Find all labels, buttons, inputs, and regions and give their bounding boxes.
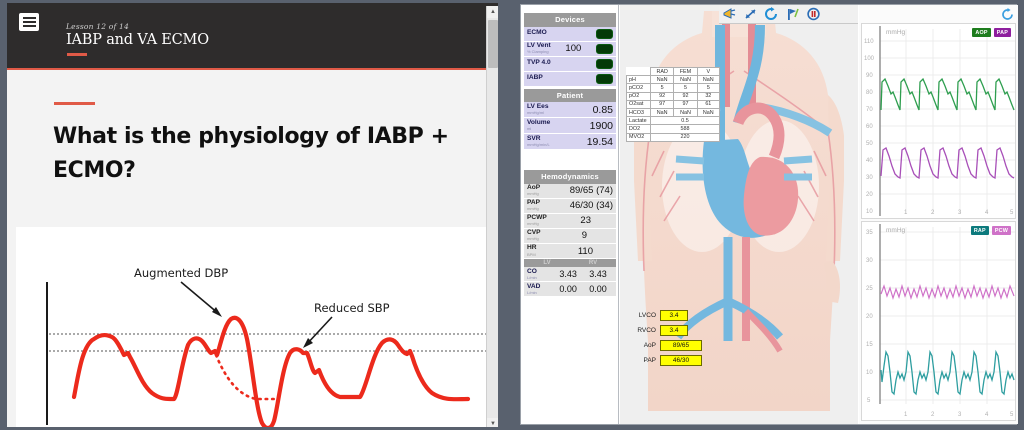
lab-row-label: O2sat	[627, 100, 651, 108]
subcolumn-rv-label: RV	[570, 259, 616, 267]
chart-aop-pap[interactable]: mmHg AOP PAP	[861, 23, 1016, 219]
device-row-ecmo[interactable]: ECMO	[524, 27, 616, 42]
device-led-indicator-icon[interactable]	[596, 44, 613, 54]
iabp-waveform-figure: Augmented DBP Reduced SBP	[16, 227, 498, 427]
hemo-param-value: 46/30 (34)	[570, 200, 613, 211]
device-led-indicator-icon[interactable]	[596, 59, 613, 69]
lab-cell-fem: 92	[674, 92, 697, 100]
readout-lvco: LVCO 3.4	[626, 310, 736, 321]
lesson-progress-label: Lesson 12 of 14	[66, 22, 129, 31]
svg-text:35: 35	[866, 230, 873, 236]
readout-value: 3.4	[660, 325, 688, 336]
hemo-lv-value: 0.00	[553, 284, 583, 294]
patient-param-unit: mmHg/ml	[527, 111, 549, 115]
hemo-row-hr: HR BPM 110	[524, 244, 616, 259]
patient-row-svr[interactable]: SVR mmHg/min/L 19.54	[524, 134, 616, 150]
hemo-param-unit: mmHg	[527, 207, 540, 211]
svg-text:1: 1	[904, 210, 908, 216]
dotted-decay-trace	[216, 355, 275, 399]
scrollbar-thumb[interactable]	[488, 20, 498, 68]
svg-text:4: 4	[985, 412, 989, 418]
lab-cell-rad: 5	[651, 84, 674, 92]
megaphone-icon[interactable]	[721, 6, 738, 22]
lab-cell-span: 220	[651, 133, 720, 141]
readout-pap: PAP 46/30	[626, 355, 736, 366]
hemo-param-value: 23	[580, 215, 591, 226]
lab-col-v: V	[697, 68, 719, 76]
svg-text:5: 5	[1010, 210, 1014, 216]
readout-value: 89/65	[660, 340, 702, 351]
hemo-param-unit: L/min	[527, 276, 553, 280]
legend-badge-rap[interactable]: RAP	[971, 226, 989, 235]
svg-text:10: 10	[866, 209, 873, 215]
chart-legend: AOP PAP	[972, 28, 1011, 37]
svg-text:40: 40	[866, 158, 873, 164]
table-row: pO2 92 92 32	[627, 92, 720, 100]
svg-text:60: 60	[866, 124, 873, 130]
hemo-row-vad: VAD L/min 0.00 0.00	[524, 282, 616, 297]
lab-col-fem: FEM	[674, 68, 697, 76]
course-canvas: Lesson 12 of 14 IABP and VA ECMO What is…	[7, 3, 498, 427]
pap-trace	[881, 148, 1014, 178]
svg-text:30: 30	[866, 175, 873, 181]
device-unit: % Clamping	[527, 50, 551, 54]
lab-cell-rad: 92	[651, 92, 674, 100]
course-pane: Lesson 12 of 14 IABP and VA ECMO What is…	[0, 0, 512, 430]
readout-value: 3.4	[660, 310, 688, 321]
hemo-param-unit: BPM	[527, 253, 537, 257]
lab-row-label: HCO3	[627, 108, 651, 116]
svg-text:20: 20	[866, 192, 873, 198]
hemo-rv-value: 0.00	[583, 284, 613, 294]
lab-cell-span: 0.5	[651, 117, 720, 125]
patient-panel: Patient LV Ees mmHg/ml 0.85 Volume ml	[524, 89, 616, 151]
hemo-param-value: 9	[582, 230, 587, 241]
chart-unit-label: mmHg	[886, 227, 905, 234]
patient-param-value: 19.54	[587, 136, 613, 148]
lab-row-label: MVO2	[627, 133, 651, 141]
svg-text:4: 4	[985, 210, 989, 216]
lab-cell-fem: 5	[674, 84, 697, 92]
flag-pen-icon[interactable]	[784, 6, 801, 22]
lab-col-blank	[627, 68, 651, 76]
chart-bot-svg: 3530 2520 1510 5 12 34 5	[862, 222, 1015, 420]
table-row: pCO2 5 5 5	[627, 84, 720, 92]
lab-cell-rad: NaN	[651, 108, 674, 116]
svg-text:5: 5	[867, 398, 871, 404]
app-root: Lesson 12 of 14 IABP and VA ECMO What is…	[0, 0, 1024, 430]
lesson-title: IABP and VA ECMO	[66, 32, 209, 48]
svg-text:2: 2	[931, 210, 935, 216]
legend-badge-pcw[interactable]: PCW	[992, 226, 1011, 235]
readout-label: PAP	[626, 357, 656, 364]
device-row-iabp[interactable]: IABP	[524, 72, 616, 87]
patient-param-value: 0.85	[593, 104, 613, 116]
simulator-toolbar	[719, 5, 858, 24]
lab-cell-fem: 97	[674, 100, 697, 108]
hemo-param-unit: L/min	[527, 291, 553, 295]
expand-arrows-icon[interactable]	[742, 6, 759, 22]
hamburger-menu-icon[interactable]	[19, 13, 39, 31]
hemo-param-unit: mmHg	[527, 237, 541, 241]
device-led-indicator-icon[interactable]	[596, 74, 613, 84]
chart-legend: RAP PCW	[971, 226, 1011, 235]
readout-aop: AoP 89/65	[626, 340, 736, 351]
hemodynamics-panel-title: Hemodynamics	[524, 170, 616, 184]
reduced-sbp-arrow	[303, 317, 332, 348]
hemo-param-value: 110	[578, 246, 593, 257]
chart-unit-label: mmHg	[886, 29, 905, 36]
svg-text:30: 30	[866, 258, 873, 264]
svg-text:20: 20	[866, 314, 873, 320]
lab-cell-fem: NaN	[674, 108, 697, 116]
simulator-window: Devices ECMO LV Vent % Clamping	[520, 4, 1017, 425]
hemo-param-value: 89/65 (74)	[570, 185, 613, 196]
svg-text:25: 25	[866, 286, 873, 292]
hemo-lv-value: 3.43	[553, 269, 583, 279]
patient-row-lv-ees[interactable]: LV Ees mmHg/ml 0.85	[524, 102, 616, 118]
table-row: DO2 588	[627, 125, 720, 133]
lab-cell-v: NaN	[697, 108, 719, 116]
svg-text:100: 100	[864, 56, 875, 62]
page-title: What is the physiology of IABP + ECMO?	[53, 120, 473, 188]
rap-trace	[881, 352, 1014, 394]
chart-rap-pcw[interactable]: mmHg RAP PCW	[861, 221, 1016, 421]
patient-param-value: 1900	[590, 120, 613, 132]
legend-badge-pap[interactable]: PAP	[994, 28, 1011, 37]
annotation-augmented-dbp: Augmented DBP	[134, 266, 228, 280]
svg-text:3: 3	[958, 412, 962, 418]
waveform-charts-column: mmHg AOP PAP	[859, 5, 1018, 424]
readout-rvco: RVCO 3.4	[626, 325, 736, 336]
svg-text:2: 2	[931, 412, 935, 418]
course-scrollbar[interactable]: ▲ ▼	[486, 6, 498, 427]
devices-panel-title: Devices	[524, 13, 616, 27]
table-header-row: RAD FEM V	[627, 68, 720, 76]
lab-col-rad: RAD	[651, 68, 674, 76]
svg-text:110: 110	[864, 39, 874, 45]
lab-row-label: Lactate	[627, 117, 651, 125]
svg-text:50: 50	[866, 141, 873, 147]
table-row: HCO3 NaN NaN NaN	[627, 108, 720, 116]
pause-circle-icon[interactable]	[805, 6, 822, 22]
simulator-parameter-column: Devices ECMO LV Vent % Clamping	[521, 5, 619, 424]
svg-text:70: 70	[866, 107, 873, 113]
lab-row-label: pO2	[627, 92, 651, 100]
lab-cell-span: 588	[651, 125, 720, 133]
device-led-indicator-icon[interactable]	[596, 29, 613, 39]
readout-label: LVCO	[626, 312, 656, 319]
course-body: What is the physiology of IABP + ECMO?	[7, 72, 498, 224]
chart-top-svg: 110100 9080 7060 5040 3020 10	[862, 24, 1015, 218]
patient-panel-title: Patient	[524, 89, 616, 103]
simulator-anatomy-area: RAD FEM V pH NaN NaN NaN pCO2 5 5 5	[620, 5, 858, 424]
hemo-row-co: CO L/min 3.43 3.43	[524, 267, 616, 282]
lab-cell-v: 61	[697, 100, 719, 108]
simulator-pane: Devices ECMO LV Vent % Clamping	[512, 0, 1024, 430]
svg-text:90: 90	[866, 73, 873, 79]
lab-cell-v: 5	[697, 84, 719, 92]
table-row: MVO2 220	[627, 133, 720, 141]
lab-cell-rad: NaN	[651, 76, 674, 84]
scroll-down-arrow-icon[interactable]: ▼	[487, 418, 498, 427]
readout-value: 46/30	[660, 355, 702, 366]
hemo-row-cvp: CVP mmHg 9	[524, 229, 616, 244]
hemo-subcolumn-header: LV RV	[524, 259, 616, 267]
patient-param-unit: ml	[527, 127, 550, 131]
legend-badge-aop[interactable]: AOP	[972, 28, 990, 37]
svg-text:15: 15	[866, 342, 873, 348]
table-row: pH NaN NaN NaN	[627, 76, 720, 84]
svg-text:10: 10	[866, 370, 873, 376]
hemo-row-pcwp: PCWP mmHg 23	[524, 214, 616, 229]
device-row-tvp[interactable]: TVP 4.0	[524, 57, 616, 72]
annotation-reduced-sbp: Reduced SBP	[314, 301, 390, 315]
aop-trace	[881, 79, 1014, 110]
table-row: Lactate 0.5	[627, 117, 720, 125]
hemo-row-aop: AoP mmHg 89/65 (74)	[524, 184, 616, 199]
svg-text:5: 5	[1010, 412, 1014, 418]
hemo-param-unit: mmHg	[527, 192, 540, 196]
blood-gas-table: RAD FEM V pH NaN NaN NaN pCO2 5 5 5	[626, 67, 720, 142]
waveform-svg	[16, 227, 498, 427]
device-name: IABP	[527, 75, 543, 82]
refresh-icon	[1001, 8, 1014, 21]
lab-cell-fem: NaN	[674, 76, 697, 84]
course-header: Lesson 12 of 14 IABP and VA ECMO	[7, 3, 498, 70]
subcolumn-lv-label: LV	[524, 259, 570, 267]
svg-text:3: 3	[958, 210, 962, 216]
lab-row-label: pH	[627, 76, 651, 84]
scroll-up-arrow-icon[interactable]: ▲	[487, 6, 498, 18]
patient-param-unit: mmHg/min/L	[527, 143, 550, 147]
body-accent-rule	[54, 102, 95, 105]
device-row-lv-vent[interactable]: LV Vent % Clamping 100	[524, 42, 616, 57]
hemo-rv-value: 3.43	[583, 269, 613, 279]
device-name: TVP 4.0	[527, 60, 551, 67]
readout-label: RVCO	[626, 327, 656, 334]
patient-row-volume[interactable]: Volume ml 1900	[524, 118, 616, 134]
lab-cell-v: NaN	[697, 76, 719, 84]
device-value: 100	[565, 43, 581, 54]
readout-label: AoP	[626, 342, 656, 349]
hemo-param-unit: mmHg	[527, 222, 547, 226]
svg-text:80: 80	[866, 90, 873, 96]
device-name: ECMO	[527, 30, 547, 37]
refresh-circle-icon[interactable]	[763, 6, 780, 22]
lab-row-label: pCO2	[627, 84, 651, 92]
lab-row-label: DO2	[627, 125, 651, 133]
table-row: O2sat 97 97 61	[627, 100, 720, 108]
devices-panel: Devices ECMO LV Vent % Clamping	[524, 13, 616, 87]
hemo-row-pap: PAP mmHg 46/30 (34)	[524, 199, 616, 214]
pressure-readout-group: LVCO 3.4 RVCO 3.4 AoP 89/65 PAP 46/30	[626, 310, 736, 370]
title-accent-rule	[67, 53, 87, 56]
lab-cell-v: 32	[697, 92, 719, 100]
svg-text:1: 1	[904, 412, 908, 418]
hemodynamics-panel: Hemodynamics AoP mmHg 89/65 (74) PAP mmH…	[524, 170, 616, 297]
augmented-dbp-arrow	[181, 282, 222, 317]
lab-cell-rad: 97	[651, 100, 674, 108]
